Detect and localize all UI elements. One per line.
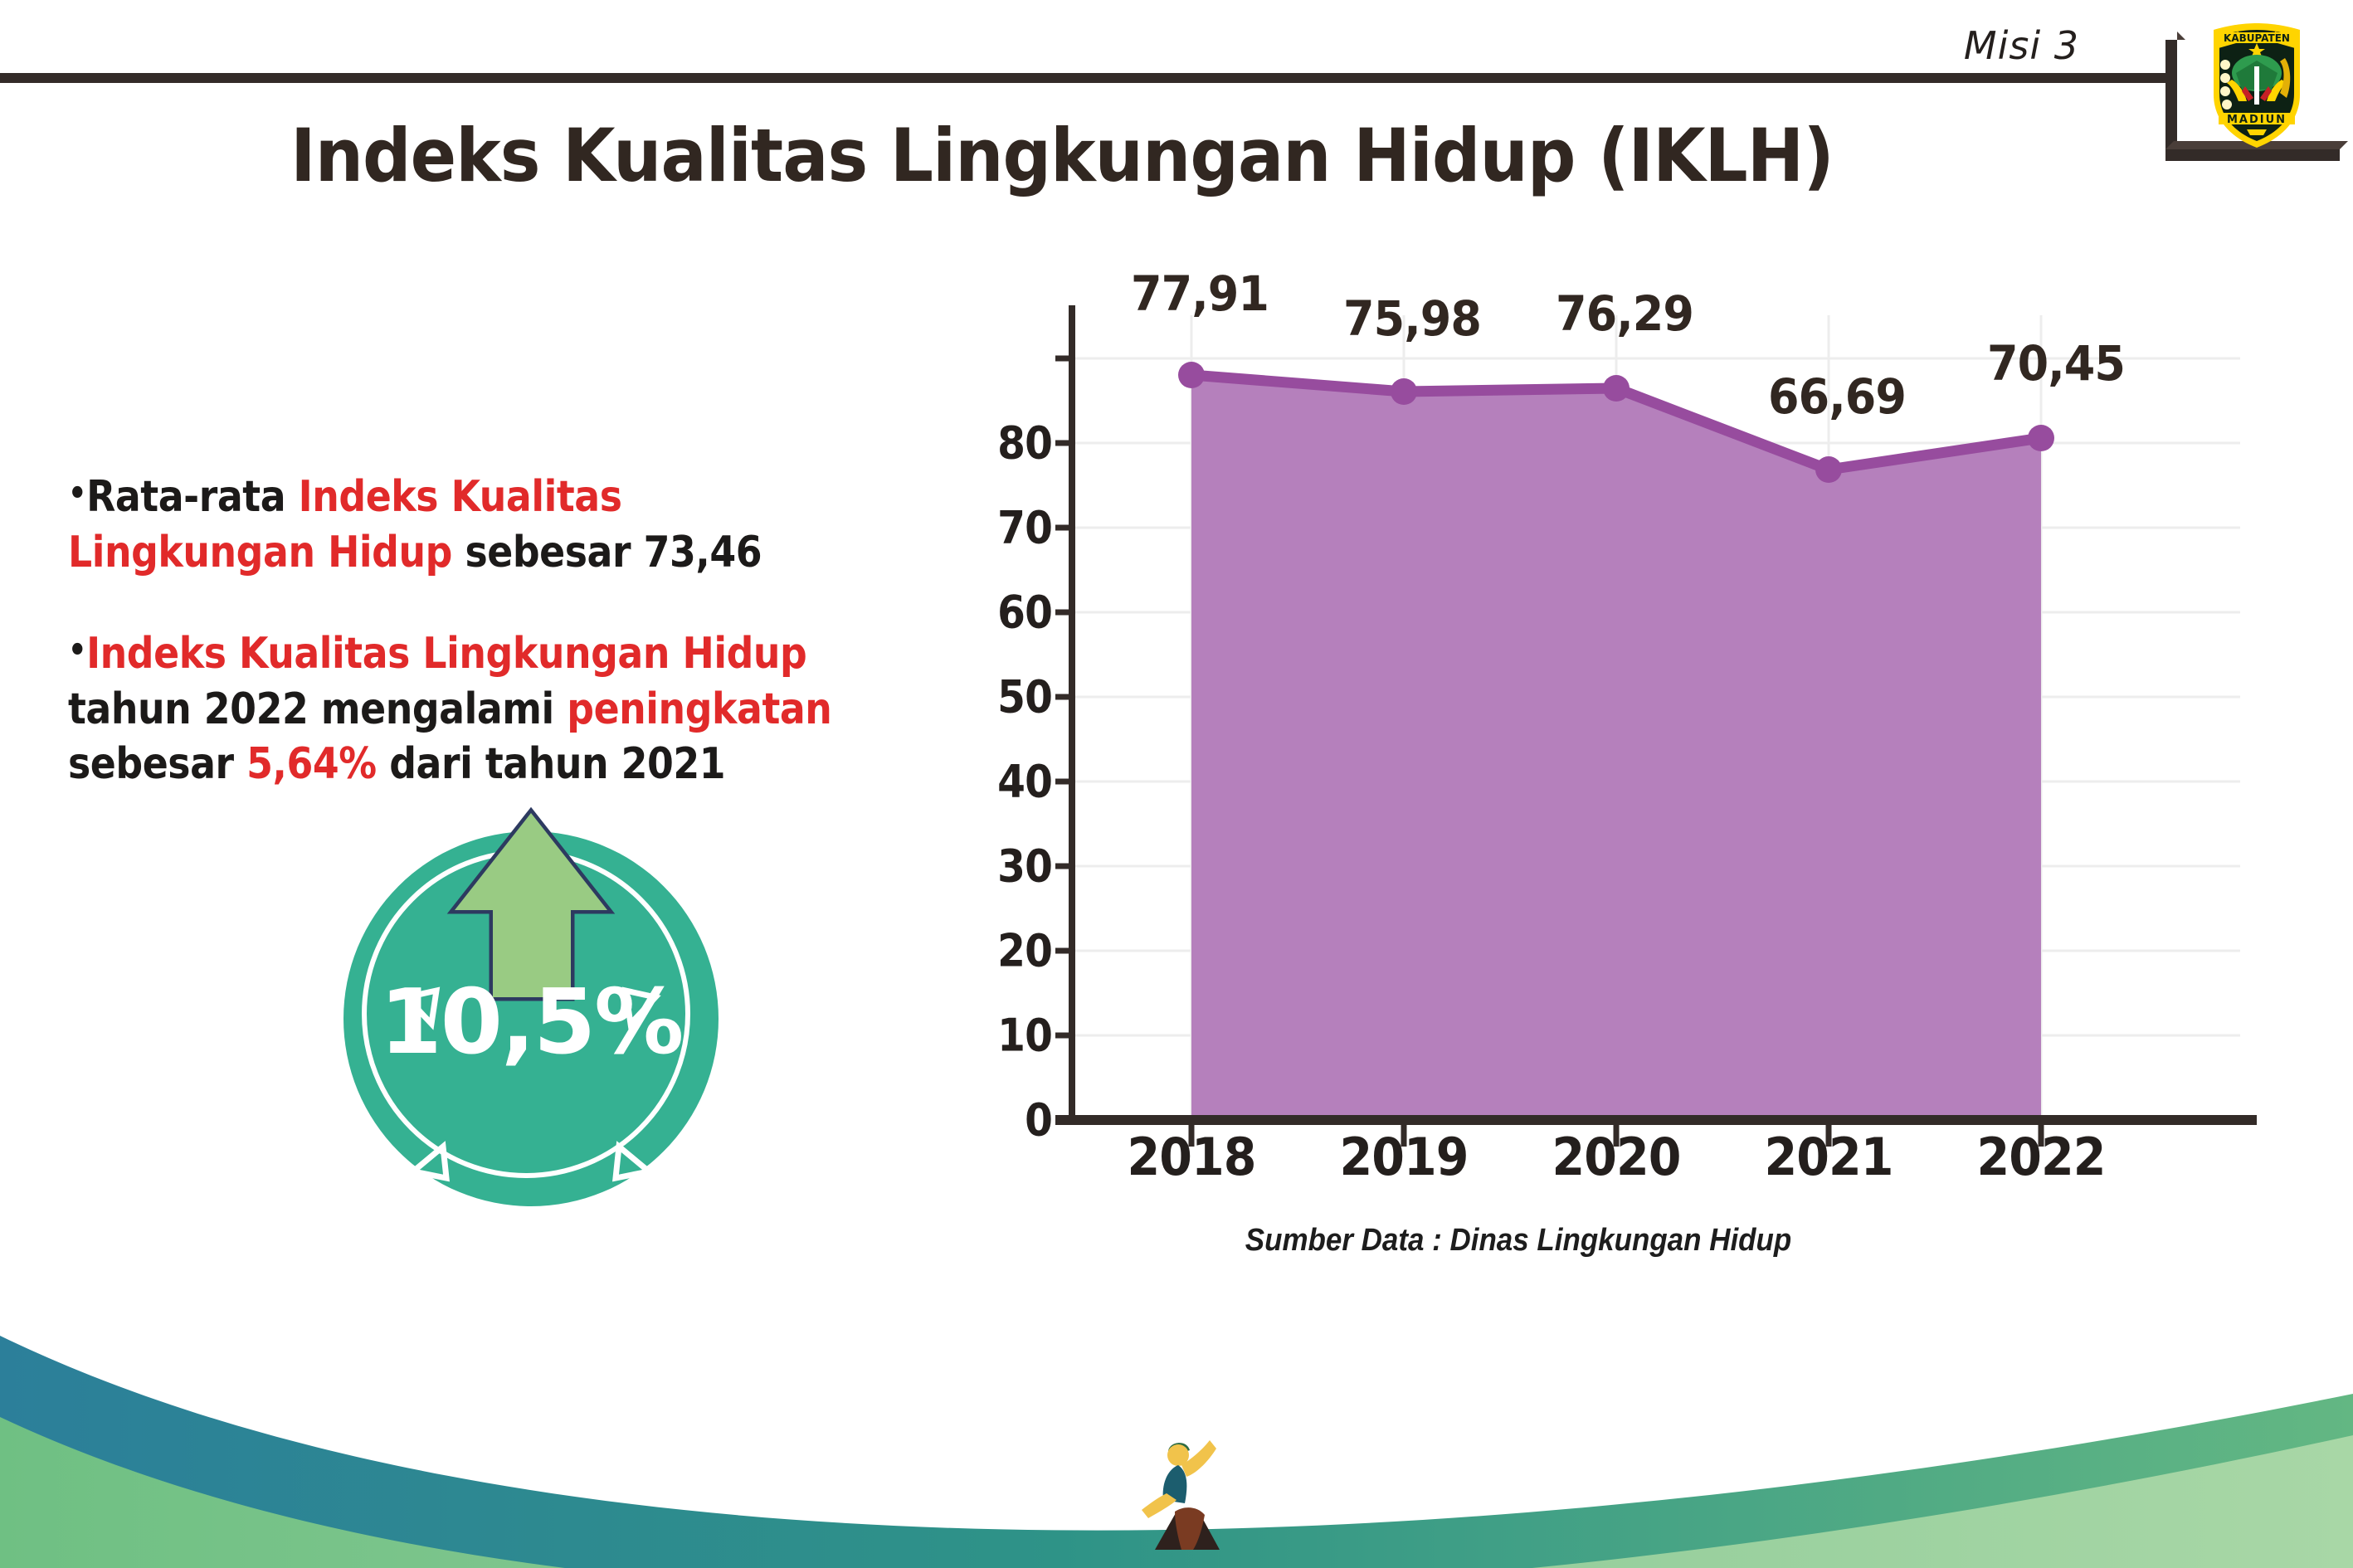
x-tick-label-2022: 2022 [1941, 1127, 2140, 1187]
y-tick-label: 30 [962, 840, 1052, 893]
data-label-2020: 76,29 [1509, 285, 1741, 342]
bullet-dot: • [68, 631, 86, 670]
y-tick-label: 70 [962, 502, 1052, 554]
chart-area-fill [1191, 375, 2041, 1120]
y-tick-label: 40 [962, 756, 1052, 808]
infografis-figure-logo-icon [1138, 1434, 1230, 1558]
increase-badge: 10,5% [330, 757, 745, 1205]
y-tick-label: 60 [962, 587, 1052, 639]
y-tick-label: 80 [962, 417, 1052, 470]
kabupaten-madiun-emblem-icon: KABUPATEN MADIUN [2199, 15, 2315, 154]
svg-text:MADIUN: MADIUN [2227, 114, 2287, 126]
iklh-area-chart: 0 10 20 30 40 50 60 70 80 2018 2019 2020… [979, 282, 2273, 1211]
chart-canvas [979, 282, 2273, 1161]
page-title: Indeks Kualitas Lingkungan Hidup (IKLH) [75, 113, 2050, 198]
x-tick-label-2018: 2018 [1092, 1127, 1290, 1187]
x-tick-label-2021: 2021 [1729, 1127, 1927, 1187]
y-tick-label: 50 [962, 671, 1052, 723]
badge-tick-br [616, 1147, 649, 1178]
x-tick-label-2019: 2019 [1304, 1127, 1503, 1187]
bullet-item: •Rata-rata Indeks Kualitas Lingkungan Hi… [68, 470, 856, 580]
y-tick-label: 0 [962, 1094, 1052, 1147]
badge-value: 10,5% [343, 971, 719, 1074]
data-label-2022: 70,45 [1941, 335, 2172, 392]
header-divider-rule [0, 73, 2175, 83]
bullet-dot: • [68, 475, 86, 513]
y-tick-label: 10 [962, 1010, 1052, 1062]
data-label-2019: 75,98 [1297, 290, 1528, 347]
bullet-text-0: Rata-rata Indeks Kualitas Lingkungan Hid… [68, 472, 762, 577]
data-label-2021: 66,69 [1722, 368, 1953, 425]
y-tick-label: 20 [962, 925, 1052, 977]
x-tick-label-2020: 2020 [1517, 1127, 1715, 1187]
badge-tick-bl [413, 1147, 446, 1178]
svg-text:KABUPATEN: KABUPATEN [2224, 32, 2290, 44]
data-label-2018: 77,91 [1084, 265, 1316, 322]
misi-label: Misi 3 [1964, 23, 2079, 68]
chart-source-note: Sumber Data : Dinas Lingkungan Hidup [1022, 1223, 2014, 1259]
